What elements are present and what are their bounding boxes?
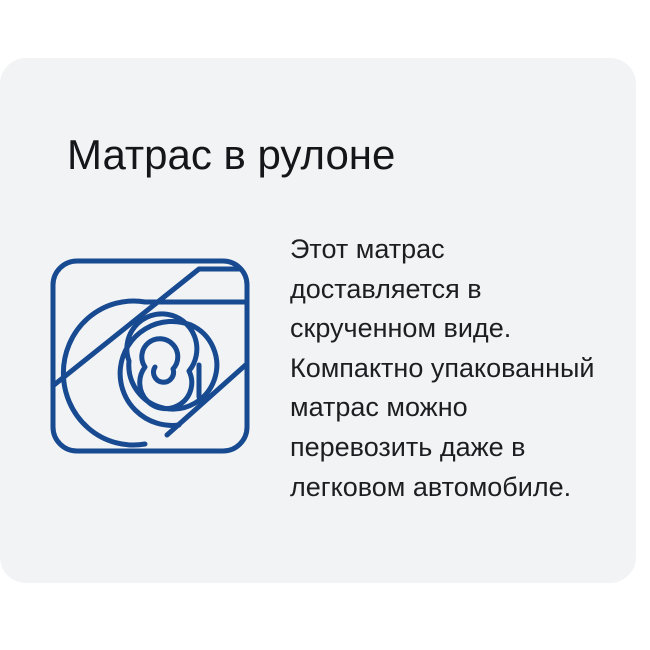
description-line: легковом автомобиле.: [290, 468, 620, 508]
description-line: матрас можно: [290, 388, 620, 428]
description-line: Этот матрас: [290, 230, 620, 270]
screenshot-canvas: Матрас в рулоне: [0, 0, 650, 650]
description-line: перевозить даже в: [290, 428, 620, 468]
rolled-mattress-info-card: Матрас в рулоне: [0, 58, 636, 583]
card-content-row: Этот матрас доставляется в скрученном ви…: [0, 58, 636, 583]
rolled-mattress-icon: [49, 257, 251, 455]
description-line: доставляется в: [290, 270, 620, 310]
description-line: Компактно упакованный: [290, 349, 620, 389]
card-description: Этот матрас доставляется в скрученном ви…: [290, 230, 620, 507]
description-line: скрученном виде.: [290, 309, 620, 349]
